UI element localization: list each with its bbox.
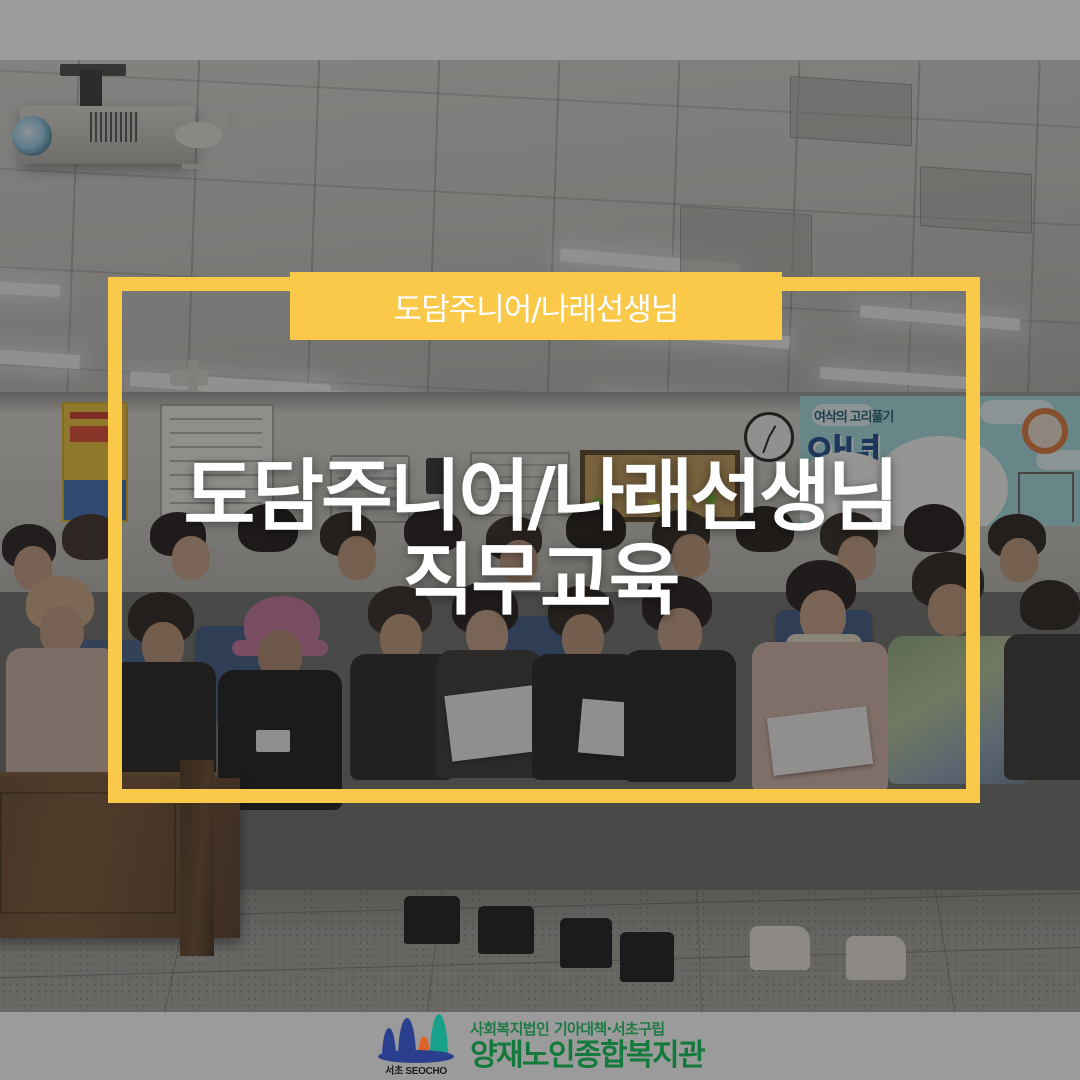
footer-text-block: 사회복지법인 기아대책·서초구립 양재노인종합복지관	[470, 1020, 704, 1072]
footer-org-name: 양재노인종합복지관	[470, 1039, 704, 1072]
promo-card: 여삭의 고리풀기 안녕	[0, 0, 1080, 1080]
footer-org-sub: 사회복지법인 기아대책·서초구립	[470, 1020, 704, 1039]
subtitle-banner-label: 도담주니어/나래선생님	[394, 284, 679, 329]
seocho-logo-caption: 서초 SEOCHO	[376, 1062, 456, 1072]
seocho-logo-icon: 서초 SEOCHO	[376, 1020, 456, 1072]
decorative-frame	[108, 277, 980, 803]
top-bar	[0, 0, 1080, 60]
footer: 서초 SEOCHO 사회복지법인 기아대책·서초구립 양재노인종합복지관	[0, 1012, 1080, 1080]
subtitle-banner: 도담주니어/나래선생님	[290, 272, 782, 340]
